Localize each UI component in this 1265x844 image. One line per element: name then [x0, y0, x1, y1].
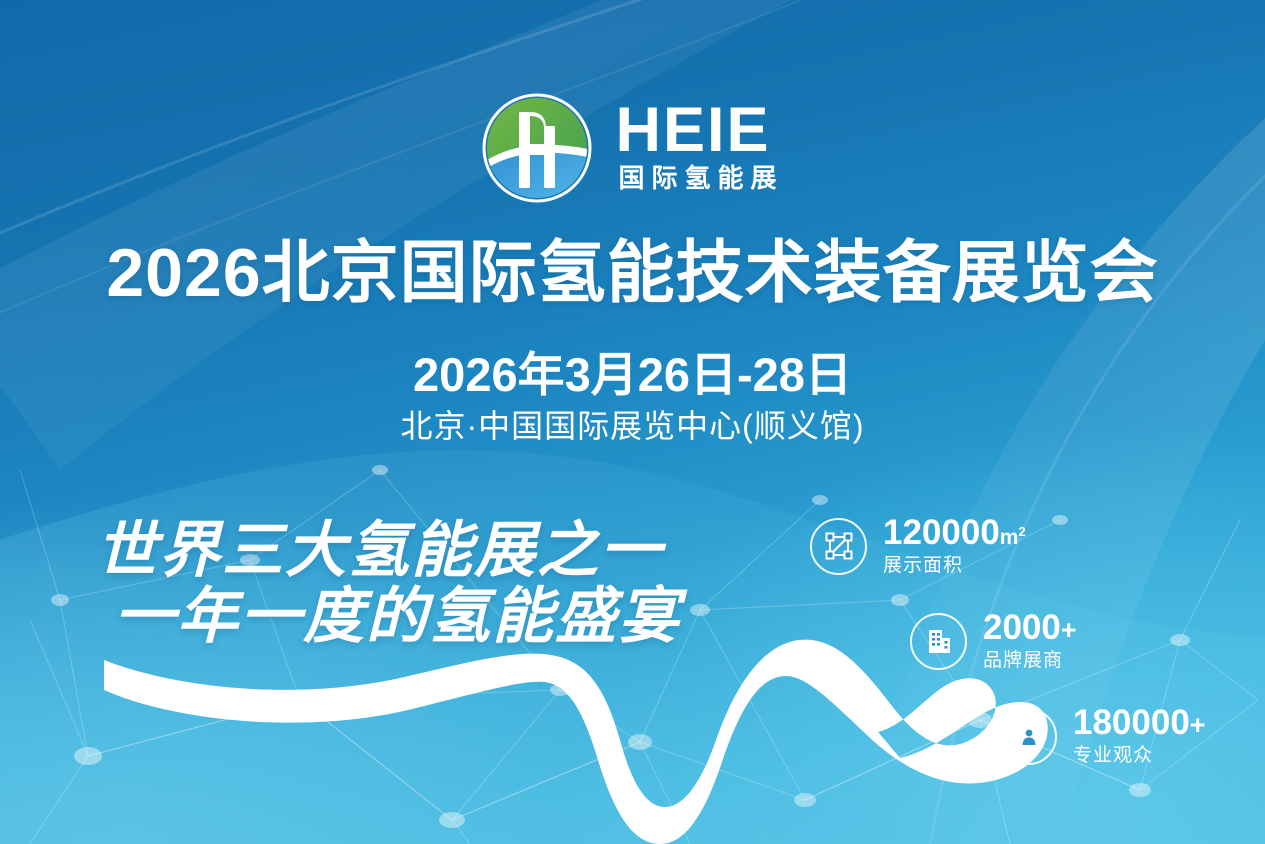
stat-body: 180000+ 专业观众: [1073, 705, 1206, 768]
slogan-line-2: 一年一度的氢能盛宴: [96, 585, 681, 647]
area-measure-icon: [810, 518, 867, 575]
stat-number: 120000: [883, 513, 1000, 552]
logo-text: HEIE 国际氢能展: [615, 101, 783, 194]
stat-item-area: 120000m2 展示面积: [810, 515, 1026, 578]
stat-value: 120000m2: [883, 515, 1026, 552]
stat-value: 2000+: [983, 610, 1077, 647]
building-icon: [910, 613, 967, 670]
stat-number: 2000: [983, 608, 1061, 647]
stat-value: 180000+: [1073, 705, 1206, 742]
event-venue: 北京·中国国际展览中心(顺义馆): [0, 407, 1265, 445]
visitor-badge-icon: [1000, 708, 1057, 765]
stat-body: 2000+ 品牌展商: [983, 610, 1077, 673]
stat-label: 专业观众: [1073, 744, 1206, 768]
stat-plus: +: [1190, 710, 1206, 740]
slogan: 世界三大氢能展之一 一年一度的氢能盛宴: [96, 519, 681, 647]
logo-subtitle: 国际氢能展: [615, 163, 783, 194]
heie-circle-logo-icon: [481, 92, 593, 204]
slogan-line-1: 世界三大氢能展之一: [96, 519, 681, 581]
stat-body: 120000m2 展示面积: [883, 515, 1026, 578]
stat-unit-sup: 2: [1018, 524, 1025, 539]
stat-plus: +: [1061, 615, 1077, 645]
page-title: 2026北京国际氢能技术装备展览会: [0, 238, 1265, 309]
stats-group: 120000m2 展示面积: [810, 515, 1265, 815]
logo-wordmark: HEIE: [615, 101, 783, 161]
stat-item-exhibitors: 2000+ 品牌展商: [910, 610, 1077, 673]
stat-item-visitors: 180000+ 专业观众: [1000, 705, 1206, 768]
poster-canvas: HEIE 国际氢能展 2026北京国际氢能技术装备展览会 2026年3月26日-…: [0, 0, 1265, 844]
event-date: 2026年3月26日-28日: [0, 349, 1265, 402]
stat-number: 180000: [1073, 703, 1190, 742]
stat-label: 品牌展商: [983, 649, 1077, 673]
stat-label: 展示面积: [883, 554, 1026, 578]
stat-unit: m2: [1000, 526, 1026, 549]
logo-block: HEIE 国际氢能展: [0, 92, 1265, 204]
